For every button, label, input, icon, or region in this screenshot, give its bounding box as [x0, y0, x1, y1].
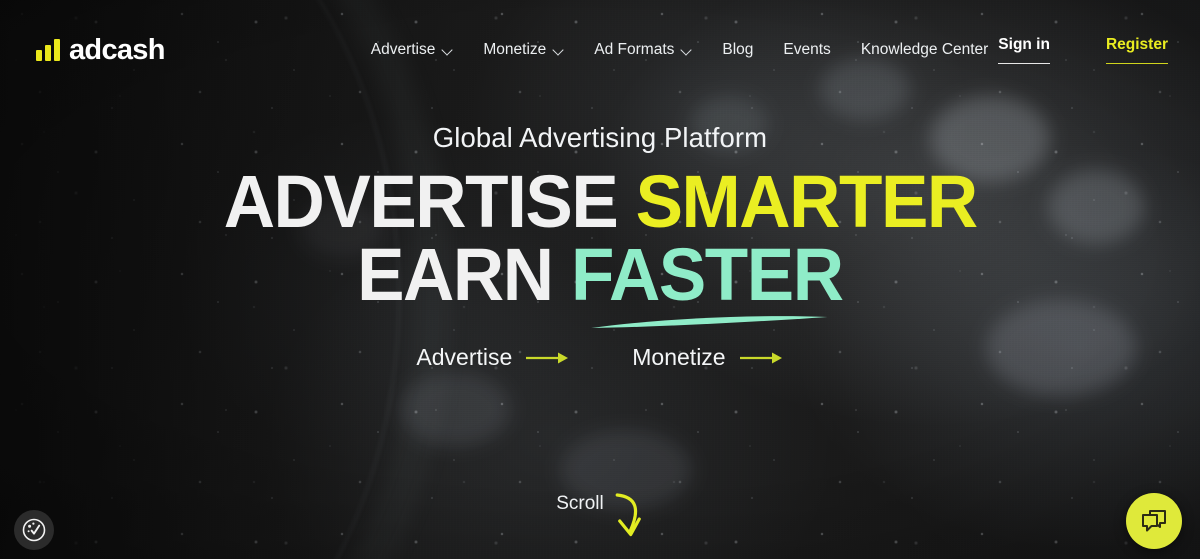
page-root: adcash Advertise Monetize Ad Formats Blo…	[0, 0, 1200, 559]
cta-label: Monetize	[632, 344, 725, 371]
scroll-label: Scroll	[556, 493, 604, 515]
cta-advertise[interactable]: Advertise	[416, 344, 570, 371]
arrow-right-icon	[740, 351, 784, 365]
nav-label: Events	[783, 41, 830, 59]
mint-underline-swoosh	[589, 312, 829, 332]
headline-word-faster: FASTER	[571, 233, 843, 316]
curved-arrow-down-icon	[610, 493, 644, 541]
chevron-down-icon	[681, 45, 692, 56]
nav-item-monetize[interactable]: Monetize	[483, 41, 564, 59]
main-navigation: Advertise Monetize Ad Formats Blog Event…	[371, 41, 989, 59]
brand-logo[interactable]: adcash	[36, 36, 165, 65]
nav-label: Knowledge Center	[861, 41, 989, 59]
hero-cta-group: Advertise Monetize	[416, 344, 783, 371]
headline-word-advertise: ADVERTISE	[223, 160, 617, 243]
cookie-consent-icon	[21, 517, 47, 543]
bar-chart-logo-icon	[36, 39, 60, 61]
nav-label: Monetize	[483, 41, 546, 59]
nav-label: Blog	[722, 41, 753, 59]
register-link[interactable]: Register	[1106, 36, 1168, 64]
auth-actions: Sign in Register	[998, 36, 1168, 64]
site-header: adcash Advertise Monetize Ad Formats Blo…	[0, 0, 1200, 100]
nav-item-advertise[interactable]: Advertise	[371, 41, 454, 59]
nav-item-blog[interactable]: Blog	[722, 41, 753, 59]
hero-headline-line-1: ADVERTISE SMARTER	[223, 166, 976, 237]
nav-item-ad-formats[interactable]: Ad Formats	[594, 41, 692, 59]
headline-word-smarter: SMARTER	[635, 160, 976, 243]
chat-bubbles-icon	[1140, 507, 1168, 535]
headline-word-earn: EARN	[357, 233, 553, 316]
nav-item-knowledge-center[interactable]: Knowledge Center	[861, 41, 989, 59]
hero-eyebrow: Global Advertising Platform	[433, 122, 767, 154]
brand-name: adcash	[69, 36, 165, 65]
hero-headline-line-2: EARN FASTER	[357, 239, 842, 310]
chat-widget-button[interactable]	[1126, 493, 1182, 549]
sign-in-link[interactable]: Sign in	[998, 36, 1050, 64]
nav-label: Advertise	[371, 41, 436, 59]
arrow-right-icon	[526, 351, 570, 365]
nav-item-events[interactable]: Events	[783, 41, 830, 59]
scroll-indicator[interactable]: Scroll	[556, 493, 644, 541]
cta-label: Advertise	[416, 344, 512, 371]
nav-label: Ad Formats	[594, 41, 674, 59]
chevron-down-icon	[442, 45, 453, 56]
chevron-down-icon	[553, 45, 564, 56]
cookie-settings-button[interactable]	[14, 510, 54, 550]
cta-monetize[interactable]: Monetize	[632, 344, 783, 371]
